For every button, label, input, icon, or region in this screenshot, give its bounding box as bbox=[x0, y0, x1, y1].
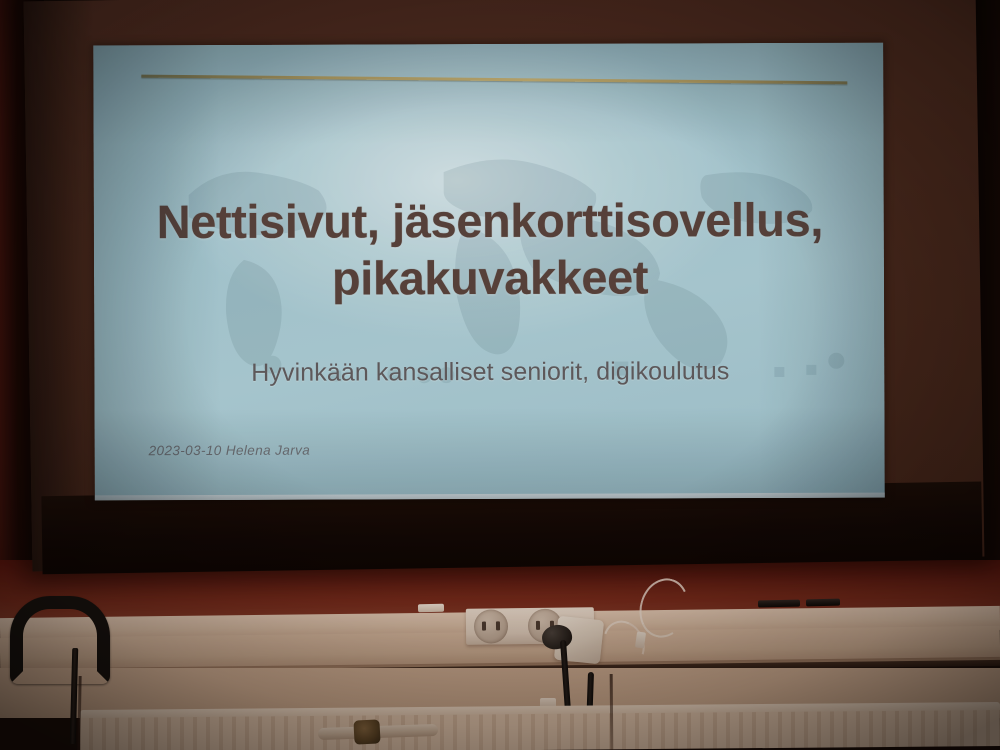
slide-title-line-2: pikakuvakkeet bbox=[134, 248, 846, 308]
photo-scene: Nettisivut, jäsenkorttisovellus, pikakuv… bbox=[0, 0, 1000, 750]
remote-control-2 bbox=[806, 599, 840, 607]
slide-title: Nettisivut, jäsenkorttisovellus, pikakuv… bbox=[134, 191, 846, 308]
remote-control-1 bbox=[758, 600, 800, 608]
projected-slide: Nettisivut, jäsenkorttisovellus, pikakuv… bbox=[93, 43, 885, 501]
radiator-valve bbox=[353, 719, 380, 744]
slide-byline: 2023-03-10 Helena Jarva bbox=[149, 443, 311, 459]
slide-title-line-1: Nettisivut, jäsenkorttisovellus, bbox=[134, 191, 846, 251]
walking-cane bbox=[10, 596, 94, 676]
cane-hook-icon bbox=[10, 596, 110, 684]
socket-left-icon bbox=[474, 609, 508, 643]
frame-shadow bbox=[24, 0, 103, 571]
radiator-fins bbox=[80, 710, 1000, 750]
slide-subtitle: Hyvinkään kansalliset seniorit, digikoul… bbox=[134, 357, 846, 388]
ledge-clip bbox=[418, 604, 444, 612]
